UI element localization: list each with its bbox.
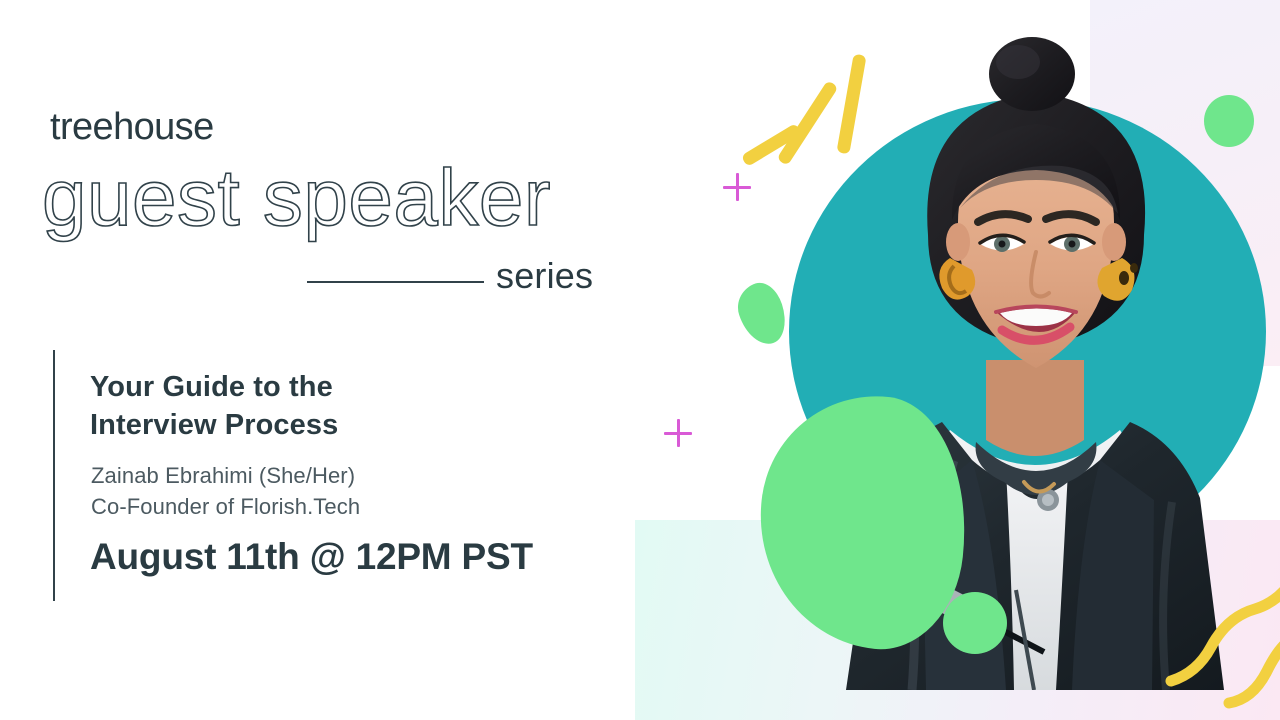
speaker-name: Zainab Ebrahimi (She/Her) bbox=[91, 460, 611, 491]
speaker-role: Co-Founder of Florish.Tech bbox=[91, 491, 611, 522]
yellow-squiggle-icon bbox=[1165, 565, 1280, 720]
green-blob-icon bbox=[731, 278, 792, 351]
series-label: series bbox=[496, 258, 593, 294]
green-dot-icon bbox=[943, 592, 1007, 654]
talk-title-line-2: Interview Process bbox=[90, 406, 610, 444]
speaker-info: Zainab Ebrahimi (She/Her) Co-Founder of … bbox=[91, 460, 611, 522]
plus-mark-icon bbox=[723, 173, 751, 201]
talk-title-line-1: Your Guide to the bbox=[90, 368, 610, 406]
hero-outline-title: guest speaker bbox=[42, 158, 551, 238]
event-datetime: August 11th @ 12PM PST bbox=[90, 536, 533, 579]
series-divider-rule bbox=[307, 281, 484, 283]
details-accent-bar bbox=[53, 350, 55, 601]
webinar-promo-slide: treehouse guest speaker series Your Guid… bbox=[0, 0, 1280, 720]
plus-mark-icon bbox=[664, 419, 692, 447]
treehouse-wordmark: treehouse bbox=[50, 108, 214, 146]
talk-title: Your Guide to the Interview Process bbox=[90, 368, 610, 445]
